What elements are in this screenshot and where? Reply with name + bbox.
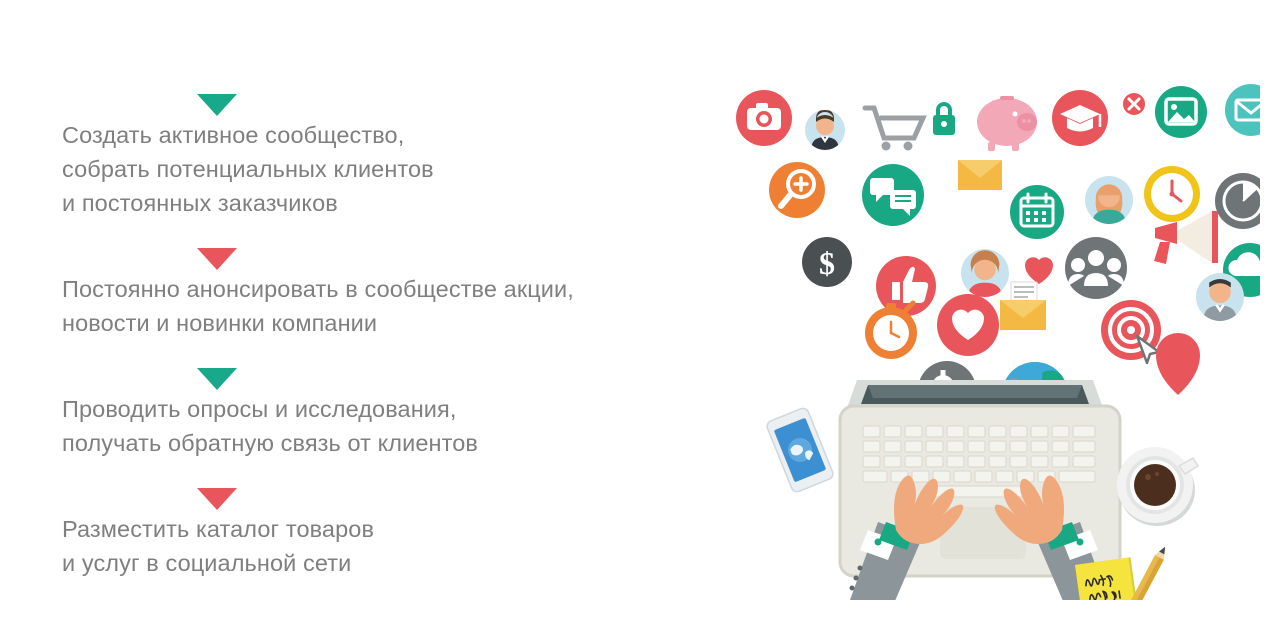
avatar-man-icon [805, 109, 845, 150]
bullet-text: Постоянно анонсировать в сообществе акци… [62, 272, 682, 340]
location-pin-icon [1156, 333, 1200, 395]
image-icon [1155, 86, 1207, 138]
social-media-funnel-laptop-illustration: $ [700, 60, 1260, 600]
close-icon [1123, 93, 1145, 115]
bullet-block: Постоянно анонсировать в сообществе акци… [62, 242, 682, 340]
mail-icon [958, 160, 1002, 190]
bullet-text: Проводить опросы и исследования, получат… [62, 392, 682, 460]
target-cursor-icon [1101, 300, 1161, 363]
group-icon [1065, 237, 1127, 299]
camera-icon [736, 90, 792, 146]
marker-row [62, 242, 682, 272]
triangle-down-icon [197, 368, 237, 390]
graduation-cap-icon [1052, 90, 1108, 146]
coffee-cup [1117, 447, 1198, 526]
calendar-icon [1010, 185, 1064, 239]
bullet-block: Проводить опросы и исследования, получат… [62, 362, 682, 460]
triangle-down-icon [197, 94, 237, 116]
triangle-down-icon [197, 248, 237, 270]
heart-small-icon [1025, 257, 1053, 284]
bullet-block: Разместить каталог товаров и услуг в соц… [62, 482, 682, 580]
marker-row [62, 482, 682, 512]
dollar-icon: $ [802, 237, 852, 287]
envelope-letter-icon [1000, 282, 1046, 330]
svg-text:$: $ [819, 245, 835, 281]
clock-icon [1144, 166, 1200, 222]
chat-bubbles-icon [862, 164, 924, 226]
smartphone-with-globe [765, 407, 834, 494]
bullet-block: Создать активное сообщество, собрать пот… [62, 88, 682, 220]
pie-chart-icon [1215, 173, 1260, 229]
avatar-woman-icon [1085, 176, 1133, 224]
envelope-icon [1225, 84, 1260, 136]
bullet-text: Разместить каталог товаров и услуг в соц… [62, 512, 682, 580]
shopping-cart-icon [865, 108, 923, 151]
bullet-text: Создать активное сообщество, собрать пот… [62, 118, 682, 220]
marker-row [62, 88, 682, 118]
bullet-list: Создать активное сообщество, собрать пот… [62, 88, 682, 580]
heart-icon [937, 294, 999, 356]
magnifier-plus-icon [769, 162, 825, 218]
avatar-woman-2-icon [961, 249, 1009, 297]
marker-row [62, 362, 682, 392]
lock-icon [933, 104, 955, 135]
avatar-man-2-icon [1196, 273, 1244, 321]
page-root: Создать активное сообщество, собрать пот… [0, 0, 1280, 617]
triangle-down-icon [197, 488, 237, 510]
piggy-bank-icon [977, 96, 1037, 151]
